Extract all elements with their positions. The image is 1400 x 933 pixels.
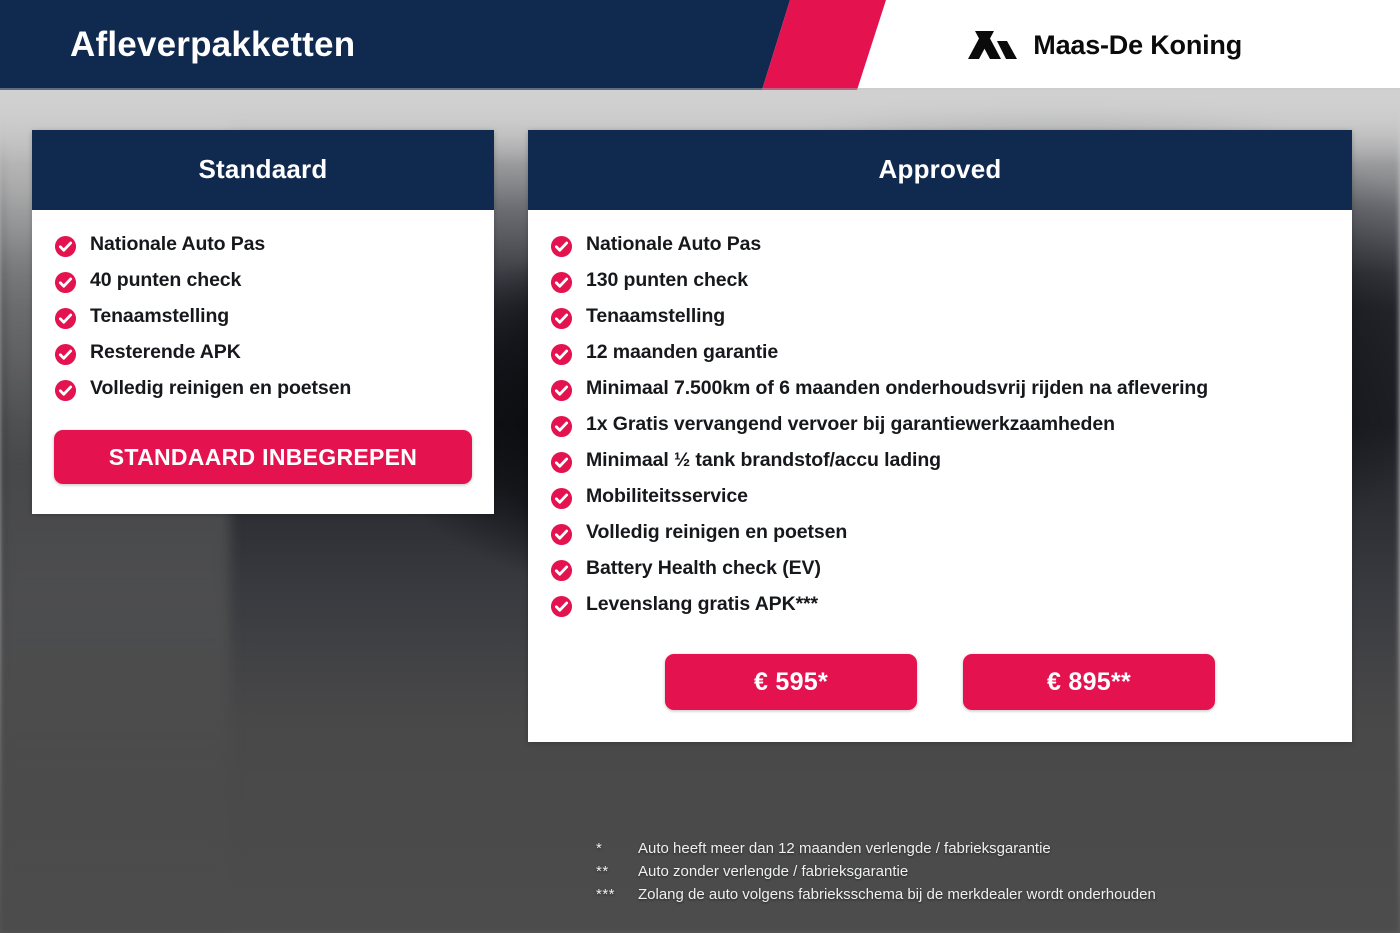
feature-label: Minimaal 7.500km of 6 maanden onderhouds… [586, 376, 1208, 402]
feature-label: 130 punten check [586, 268, 748, 294]
maas-de-koning-m-logo-icon [961, 25, 1019, 65]
feature-label: Mobiliteitsservice [586, 484, 748, 510]
check-circle-icon [550, 451, 573, 474]
feature-label: Minimaal ½ tank brandstof/accu lading [586, 448, 941, 474]
footnote-text: Auto heeft meer dan 12 maanden verlengde… [638, 838, 1051, 861]
standaard-cta-area: STANDAARD INBEGREPEN [32, 402, 494, 514]
package-card-approved: Approved Nationale Auto Pas 130 punten c… [528, 130, 1352, 742]
feature-label: 1x Gratis vervangend vervoer bij garanti… [586, 412, 1115, 438]
feature-label: 12 maanden garantie [586, 340, 778, 366]
package-features-standaard: Nationale Auto Pas 40 punten check Tenaa… [32, 210, 494, 402]
package-features-approved: Nationale Auto Pas 130 punten check Tena… [528, 210, 1352, 618]
check-circle-icon [550, 415, 573, 438]
list-item: 40 punten check [54, 268, 472, 294]
feature-label: Volledig reinigen en poetsen [90, 376, 351, 402]
standaard-included-button[interactable]: STANDAARD INBEGREPEN [54, 430, 472, 484]
check-circle-icon [550, 307, 573, 330]
package-title-standaard: Standaard [32, 130, 494, 210]
header-divider [0, 88, 1400, 90]
check-circle-icon [550, 271, 573, 294]
page-title: Afleverpakketten [70, 0, 355, 90]
list-item: Tenaamstelling [550, 304, 1330, 330]
footnote-3: *** Zolang de auto volgens fabrieksschem… [596, 884, 1156, 907]
footnotes: * Auto heeft meer dan 12 maanden verleng… [596, 838, 1156, 906]
brand-logo: Maas-De Koning [961, 0, 1242, 90]
feature-list: Nationale Auto Pas 40 punten check Tenaa… [54, 232, 472, 402]
footnote-1: * Auto heeft meer dan 12 maanden verleng… [596, 838, 1156, 861]
footnote-text: Zolang de auto volgens fabrieksschema bi… [638, 884, 1156, 907]
list-item: 12 maanden garantie [550, 340, 1330, 366]
feature-label: Tenaamstelling [586, 304, 725, 330]
list-item: Nationale Auto Pas [54, 232, 472, 258]
feature-label: 40 punten check [90, 268, 241, 294]
package-card-standaard: Standaard Nationale Auto Pas 40 punten c… [32, 130, 494, 514]
feature-label: Nationale Auto Pas [90, 232, 265, 258]
check-circle-icon [550, 487, 573, 510]
list-item: Resterende APK [54, 340, 472, 366]
price-button-595[interactable]: € 595* [665, 654, 917, 710]
brand-name: Maas-De Koning [1033, 30, 1242, 61]
check-circle-icon [54, 343, 77, 366]
feature-label: Tenaamstelling [90, 304, 229, 330]
footnote-marker: * [596, 838, 638, 861]
list-item: 1x Gratis vervangend vervoer bij garanti… [550, 412, 1330, 438]
check-circle-icon [550, 595, 573, 618]
feature-label: Resterende APK [90, 340, 241, 366]
footnote-2: ** Auto zonder verlengde / fabrieksgaran… [596, 861, 1156, 884]
feature-label: Levenslang gratis APK*** [586, 592, 818, 618]
list-item: Minimaal ½ tank brandstof/accu lading [550, 448, 1330, 474]
list-item: Minimaal 7.500km of 6 maanden onderhouds… [550, 376, 1330, 402]
price-button-895[interactable]: € 895** [963, 654, 1215, 710]
feature-label: Volledig reinigen en poetsen [586, 520, 847, 546]
check-circle-icon [550, 343, 573, 366]
footnote-marker: *** [596, 884, 638, 907]
check-circle-icon [550, 379, 573, 402]
check-circle-icon [550, 523, 573, 546]
price-button-row: € 595* € 895** [528, 618, 1352, 742]
feature-label: Nationale Auto Pas [586, 232, 761, 258]
check-circle-icon [54, 379, 77, 402]
check-circle-icon [54, 271, 77, 294]
list-item: Mobiliteitsservice [550, 484, 1330, 510]
feature-list: Nationale Auto Pas 130 punten check Tena… [550, 232, 1330, 618]
list-item: Levenslang gratis APK*** [550, 592, 1330, 618]
feature-label: Battery Health check (EV) [586, 556, 821, 582]
list-item: 130 punten check [550, 268, 1330, 294]
list-item: Volledig reinigen en poetsen [550, 520, 1330, 546]
check-circle-icon [550, 235, 573, 258]
poster-canvas: Afleverpakketten Maas-De Koning Standaar… [0, 0, 1400, 933]
check-circle-icon [54, 235, 77, 258]
footnote-text: Auto zonder verlengde / fabrieksgarantie [638, 861, 908, 884]
package-title-approved: Approved [528, 130, 1352, 210]
list-item: Volledig reinigen en poetsen [54, 376, 472, 402]
list-item: Battery Health check (EV) [550, 556, 1330, 582]
footnote-marker: ** [596, 861, 638, 884]
check-circle-icon [54, 307, 77, 330]
list-item: Tenaamstelling [54, 304, 472, 330]
list-item: Nationale Auto Pas [550, 232, 1330, 258]
check-circle-icon [550, 559, 573, 582]
page-header: Afleverpakketten Maas-De Koning [0, 0, 1400, 90]
